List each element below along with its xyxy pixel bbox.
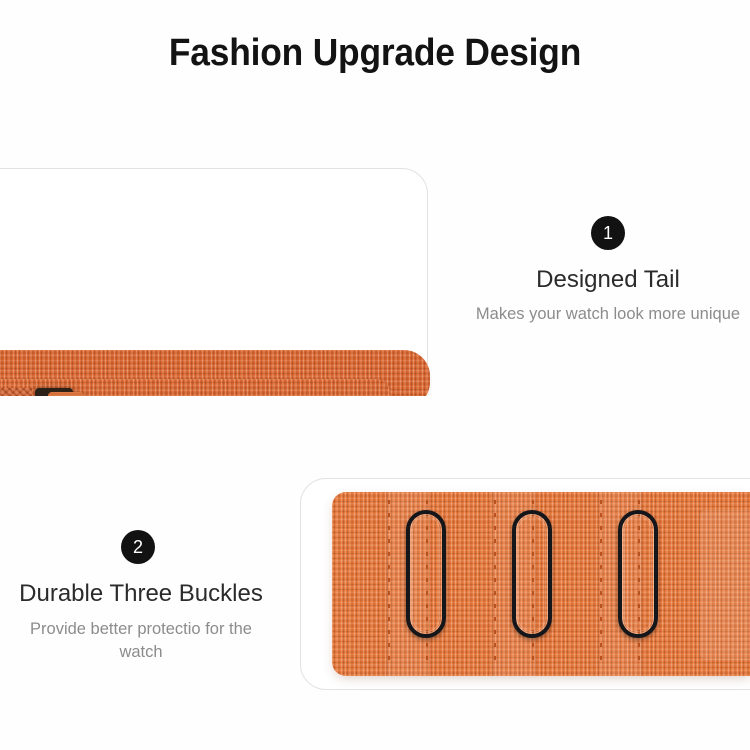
- strap-keeper-loop: [48, 392, 84, 396]
- stitch-line-5: [600, 500, 602, 668]
- feature-1-heading: Designed Tail: [468, 266, 748, 294]
- strap-weave-panel: [0, 388, 32, 396]
- stitch-line-1: [388, 500, 390, 668]
- feature-1-photo: KB 05 SWEATPROOF DURABLE TENACITY Kalebo…: [0, 160, 432, 396]
- strap-end-tab: [699, 510, 750, 660]
- feature-2-heading: Durable Three Buckles: [0, 580, 282, 608]
- stitch-line-3: [494, 500, 496, 668]
- page-title: Fashion Upgrade Design: [26, 32, 724, 75]
- metal-buckle-3: [618, 510, 658, 638]
- feature-2-description: Provide better protectio for the watch: [14, 618, 268, 664]
- metal-buckle-2: [512, 510, 552, 638]
- feature-2-photo: [300, 470, 750, 698]
- feature-1-description: Makes your watch look more unique: [474, 303, 742, 326]
- feature-1-number-badge: 1: [591, 216, 625, 250]
- feature-2-number-badge: 2: [121, 530, 155, 564]
- metal-buckle-1: [406, 510, 446, 638]
- infographic-page: Fashion Upgrade Design KB 05 SWEATPROOF …: [0, 0, 750, 750]
